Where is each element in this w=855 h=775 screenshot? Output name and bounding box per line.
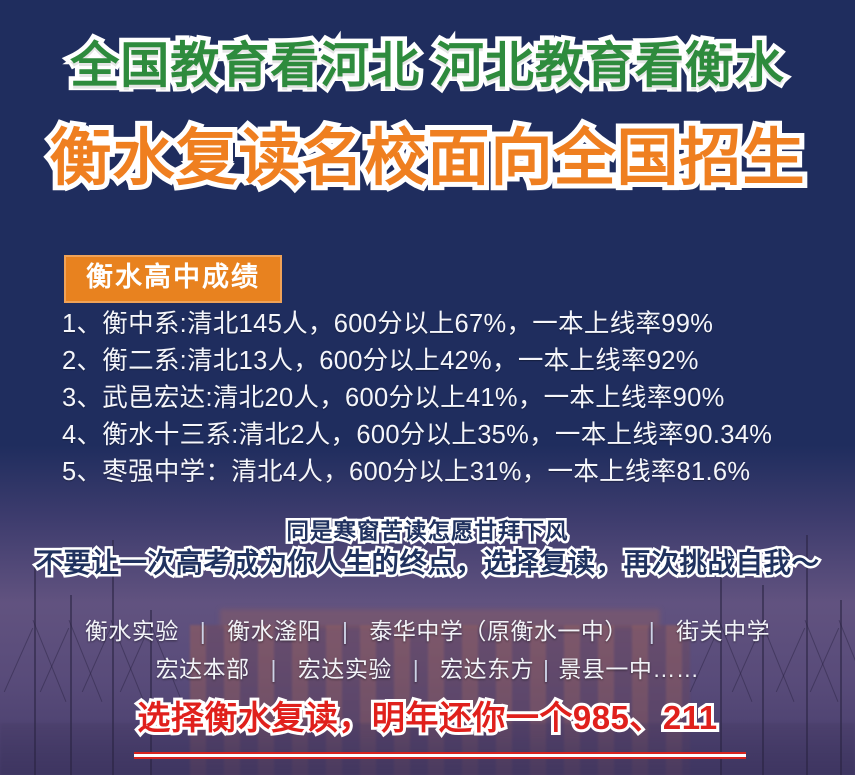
- divider-icon: |: [256, 656, 290, 682]
- headline-secondary-container: 衡水复读名校面向全国招生: [0, 128, 855, 190]
- headline-primary: 全国教育看河北 河北教育看衡水: [70, 42, 785, 91]
- school-row-1: 衡水实验 | 衡水滏阳 | 泰华中学（原衡水一中） | 街关中学: [0, 612, 855, 650]
- divider-icon: |: [635, 618, 669, 644]
- school-name: 宏达实验: [298, 656, 392, 682]
- cta-container: 选择衡水复读，明年还你一个985、211: [0, 700, 855, 736]
- school-name: 衡水滏阳: [227, 618, 321, 644]
- school-name: 泰华中学（原衡水一中）: [369, 618, 628, 644]
- school-list: 衡水实验 | 衡水滏阳 | 泰华中学（原衡水一中） | 街关中学 宏达本部 | …: [0, 612, 855, 688]
- cta-underline-rule: [134, 752, 746, 759]
- slogan-line-2: 不要让一次高考成为你人生的终点，选择复读，再次挑战自我～: [0, 546, 855, 581]
- cta-text: 选择衡水复读，明年还你一个985、211: [137, 700, 717, 736]
- list-item: 1、衡中系:清北145人，600分以上67%，一本上线率99%: [62, 306, 842, 343]
- divider-icon: |: [328, 618, 362, 644]
- school-name: 宏达本部: [156, 656, 250, 682]
- school-name: 衡水实验: [85, 618, 179, 644]
- school-name: 景县一中……: [558, 656, 699, 682]
- slogan-block: 同是寒窗苦读怎愿甘拜下风 不要让一次高考成为你人生的终点，选择复读，再次挑战自我…: [0, 518, 855, 581]
- list-item: 2、衡二系:清北13人，600分以上42%，一本上线率92%: [62, 343, 842, 380]
- list-item: 5、枣强中学：清北4人，600分以上31%，一本上线率81.6%: [62, 454, 842, 491]
- scores-list: 1、衡中系:清北145人，600分以上67%，一本上线率99% 2、衡二系:清北…: [62, 306, 842, 491]
- divider-icon: |: [541, 656, 551, 682]
- section-badge-scores: 衡水高中成绩: [64, 255, 282, 303]
- slogan-line-1: 同是寒窗苦读怎愿甘拜下风: [0, 518, 855, 546]
- divider-icon: |: [399, 656, 433, 682]
- headline-primary-container: 全国教育看河北 河北教育看衡水: [0, 42, 855, 91]
- list-item: 3、武邑宏达:清北20人，600分以上41%，一本上线率90%: [62, 380, 842, 417]
- school-name: 宏达东方: [440, 656, 534, 682]
- list-item: 4、衡水十三系:清北2人，600分以上35%，一本上线率90.34%: [62, 417, 842, 454]
- school-name: 街关中学: [676, 618, 770, 644]
- promo-poster: 全国教育看河北 河北教育看衡水 衡水复读名校面向全国招生 衡水高中成绩 1、衡中…: [0, 0, 855, 775]
- divider-icon: |: [186, 618, 220, 644]
- school-row-2: 宏达本部 | 宏达实验 | 宏达东方 | 景县一中……: [0, 650, 855, 688]
- headline-secondary: 衡水复读名校面向全国招生: [49, 128, 805, 190]
